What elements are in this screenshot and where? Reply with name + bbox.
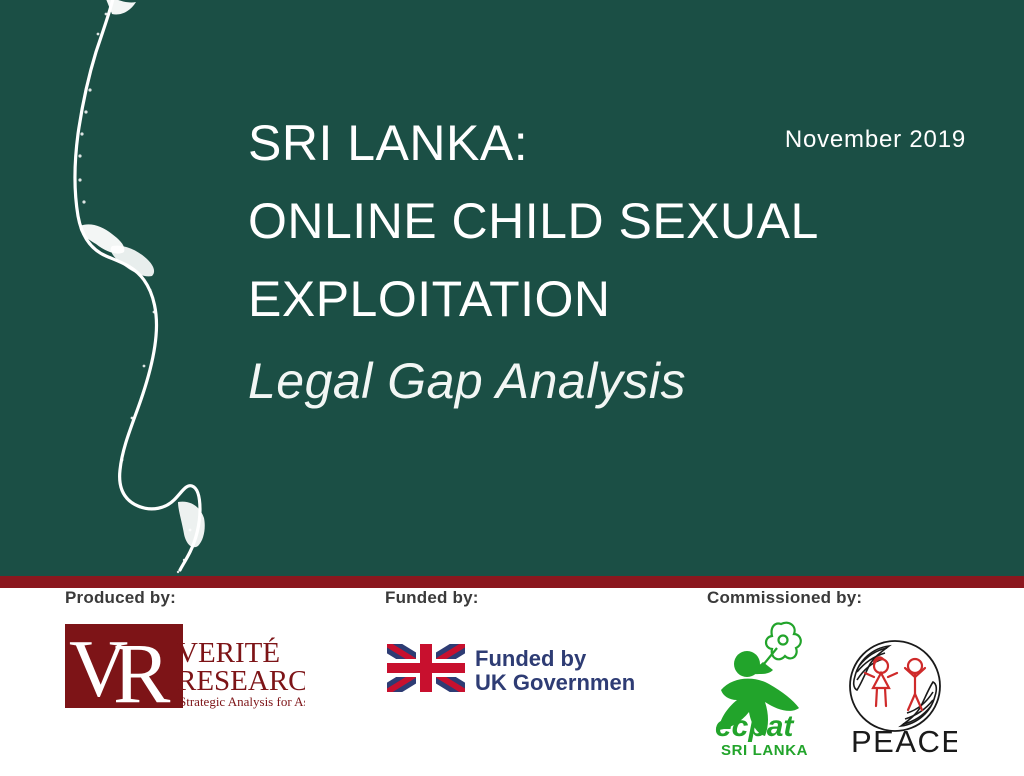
footer-credits: Produced by: V R VERITÉ RESEARCH Strateg… [0,588,1024,776]
verite-tagline: Strategic Analysis for Asia [179,694,305,709]
logo-row-funded-by: Funded by UK Government [385,618,695,696]
svg-text:R: R [113,625,171,713]
logo-row-produced-by: V R VERITÉ RESEARCH Strategic Analysis f… [65,618,375,713]
credit-group-commissioned-by: Commissioned by: ecpat SRI LANKA [707,588,1007,760]
ecpat-wordmark: ecpat [715,710,795,743]
verite-wordmark-line2: RESEARCH [177,665,305,697]
credit-label-produced-by: Produced by: [65,588,375,608]
ukgov-line2: UK Government [475,670,635,695]
credit-label-funded-by: Funded by: [385,588,695,608]
uk-government-logo: Funded by UK Government [385,640,635,696]
logo-row-commissioned-by: ecpat SRI LANKA [707,618,1007,760]
peace-wordmark: PEACE [851,724,957,758]
union-jack-flag-icon [387,644,465,692]
ukgov-line1: Funded by [475,646,587,671]
embracing-hands-icon [854,646,937,726]
sri-lanka-coastline-graphic [20,0,250,576]
hero-banner: SRI LANKA: ONLINE CHILD SEXUAL EXPLOITAT… [0,0,1024,576]
title-line-3: EXPLOITATION [248,260,968,338]
credit-label-commissioned-by: Commissioned by: [707,588,1007,608]
title-line-2: ONLINE CHILD SEXUAL [248,182,968,260]
credit-group-produced-by: Produced by: V R VERITÉ RESEARCH Strateg… [65,588,375,713]
publication-date: November 2019 [785,126,966,154]
accent-divider [0,576,1024,588]
cover-subtitle: Legal Gap Analysis [248,342,968,420]
peace-logo: PEACE [833,632,957,758]
credit-group-funded-by: Funded by: [385,588,695,696]
report-cover-page: SRI LANKA: ONLINE CHILD SEXUAL EXPLOITAT… [0,0,1024,776]
ecpat-subtitle: SRI LANKA [721,742,808,759]
ecpat-sri-lanka-logo: ecpat SRI LANKA [707,618,811,760]
verite-research-logo: V R VERITÉ RESEARCH Strategic Analysis f… [65,618,305,713]
